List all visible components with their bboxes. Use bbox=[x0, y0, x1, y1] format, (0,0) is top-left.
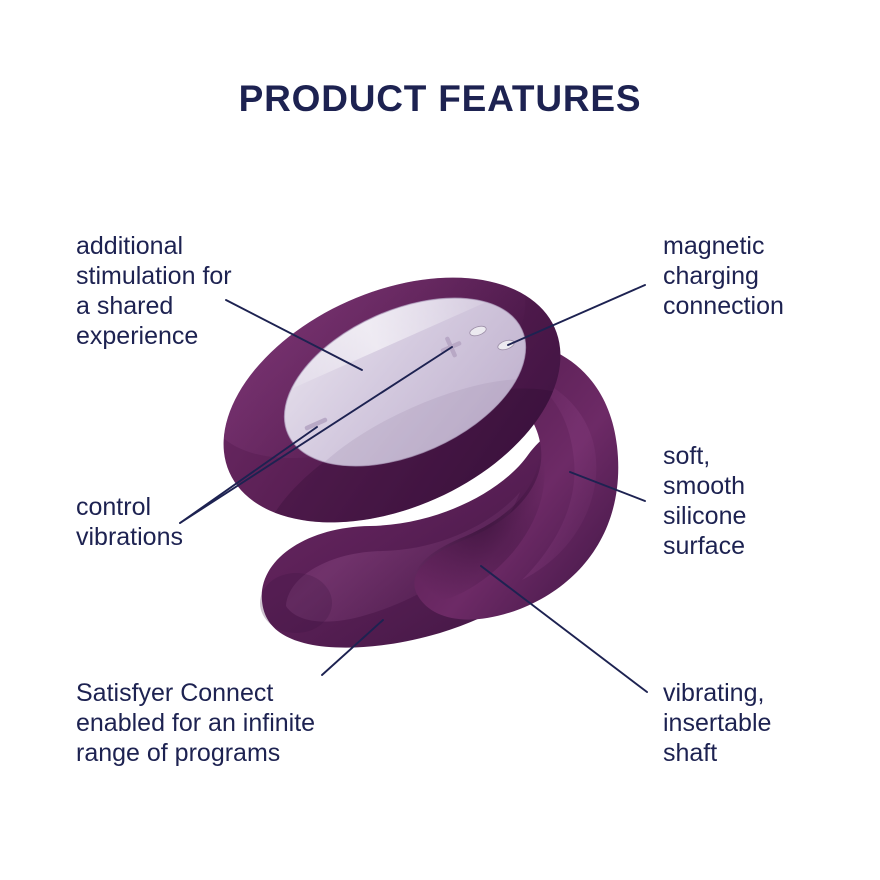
callout-additional-stimulation: additional stimulation for a shared expe… bbox=[76, 231, 326, 351]
insertable-shaft bbox=[260, 427, 599, 647]
arm-highlight bbox=[520, 372, 596, 580]
outer-body-arm bbox=[411, 338, 618, 619]
charging-pin-2 bbox=[497, 338, 516, 351]
callout-satisfyer-connect: Satisfyer Connect enabled for an infinit… bbox=[76, 678, 396, 768]
arm-silhouette bbox=[411, 338, 618, 619]
product-features-infographic: PRODUCT FEATURES additional stimulation … bbox=[0, 0, 880, 880]
leader-vibrating-shaft bbox=[481, 566, 647, 692]
callout-soft-silicone: soft, smooth silicone surface bbox=[663, 441, 868, 561]
callout-magnetic-charging: magnetic charging connection bbox=[663, 231, 878, 321]
control-panel-shading bbox=[283, 351, 576, 549]
page-title: PRODUCT FEATURES bbox=[0, 78, 880, 120]
decrease-intensity-button[interactable] bbox=[304, 417, 328, 431]
increase-intensity-button[interactable] bbox=[436, 332, 465, 361]
callout-control-vibrations: control vibrations bbox=[76, 492, 306, 552]
plus-icon-vertical bbox=[445, 336, 458, 358]
minus-icon bbox=[304, 417, 328, 431]
inner-notch-shadow bbox=[414, 448, 545, 601]
leader-satisfyer-connect bbox=[322, 620, 383, 675]
charging-pin-1 bbox=[469, 324, 488, 337]
charging-pins bbox=[469, 324, 516, 351]
shaft-tip-shading bbox=[260, 573, 332, 633]
leader-magnetic-charging bbox=[508, 285, 645, 345]
plus-icon-horizontal bbox=[440, 341, 462, 354]
leader-soft-silicone bbox=[570, 472, 645, 501]
callout-vibrating-shaft: vibrating, insertable shaft bbox=[663, 678, 868, 768]
shaft-silhouette bbox=[262, 427, 600, 647]
shaft-highlight bbox=[286, 492, 520, 622]
